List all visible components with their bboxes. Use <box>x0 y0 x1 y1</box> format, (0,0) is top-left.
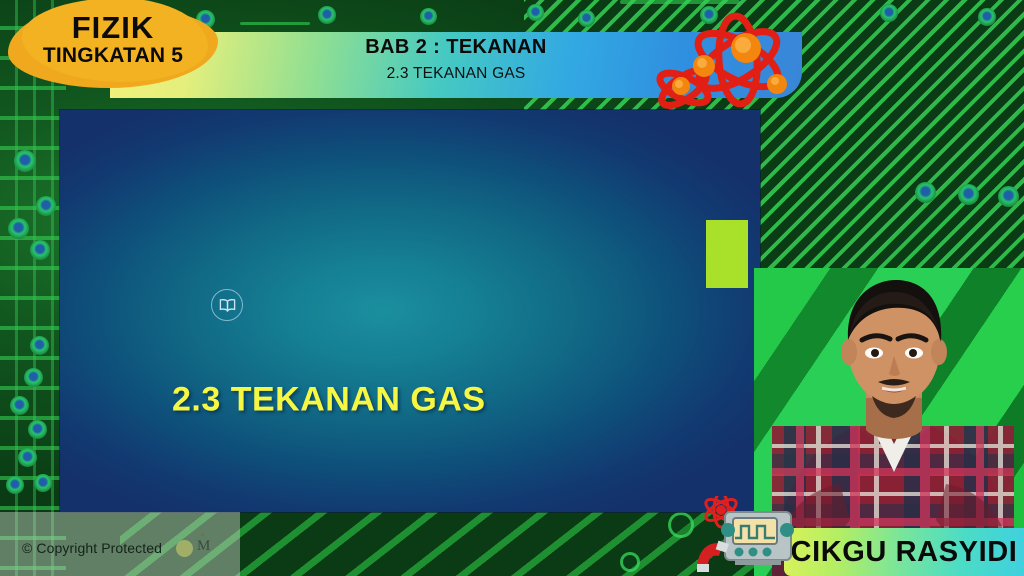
circuit-via <box>18 448 37 467</box>
presentation-slide[interactable]: 2.3 TEKANAN GAS <box>60 110 760 512</box>
circuit-via <box>978 8 996 26</box>
watermark-letter: M <box>197 538 210 555</box>
presenter-name-bar: CIKGU RASYIDI <box>784 528 1024 576</box>
circuit-via <box>14 150 36 172</box>
atom-icon <box>650 8 810 113</box>
circuit-via <box>30 240 50 260</box>
badge-form-level: TINGKATAN 5 <box>8 44 218 68</box>
subject-badge: FIZIK TINGKATAN 5 <box>8 4 218 88</box>
circuit-ring-pad <box>620 552 640 572</box>
copyright-notice: © Copyright Protected <box>22 540 162 556</box>
physics-lab-oscilloscope-icon <box>695 496 807 572</box>
circuit-via <box>6 476 24 494</box>
circuit-via <box>318 6 336 24</box>
circuit-via <box>578 10 595 27</box>
presenter-name: CIKGU RASYIDI <box>791 536 1018 569</box>
circuit-via <box>10 396 29 415</box>
circuit-ring-pad <box>668 512 694 538</box>
circuit-via <box>34 474 52 492</box>
circuit-trace <box>620 0 740 4</box>
circuit-via <box>998 186 1019 207</box>
open-book-icon <box>211 289 243 321</box>
circuit-trace <box>240 22 310 25</box>
circuit-via <box>30 336 49 355</box>
circuit-via <box>8 218 29 239</box>
circuit-via <box>527 4 544 21</box>
watermark: ⋆ M <box>170 524 226 574</box>
circuit-via <box>36 196 56 216</box>
circuit-via <box>420 8 437 25</box>
circuit-via <box>24 368 43 387</box>
green-block <box>706 220 748 288</box>
circuit-via <box>958 184 979 205</box>
screen-stage: BAB 2 : TEKANAN 2.3 TEKANAN GAS FIZIK <box>0 0 1024 576</box>
watermark-dot <box>176 540 193 557</box>
slide-title: 2.3 TEKANAN GAS <box>172 381 486 420</box>
circuit-via <box>880 4 898 22</box>
circuit-via <box>28 420 47 439</box>
badge-subject-name: FIZIK <box>8 10 218 46</box>
circuit-via <box>915 182 936 203</box>
